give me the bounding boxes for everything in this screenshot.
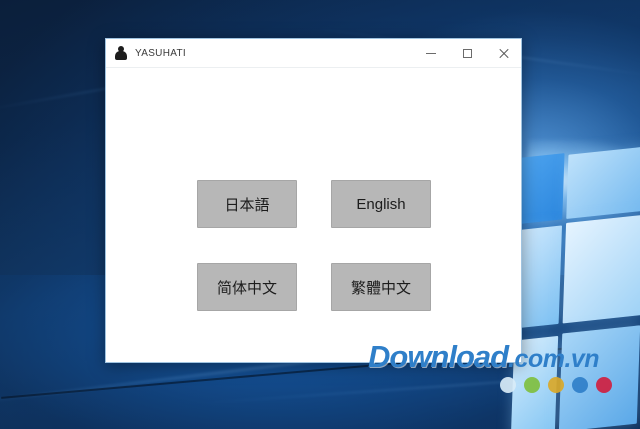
dot-yellow bbox=[548, 377, 564, 393]
application-window: YASUHATI 日本語 English 简体中文 繁體中文 bbox=[105, 38, 522, 363]
maximize-button[interactable] bbox=[449, 39, 485, 68]
language-button-japanese[interactable]: 日本語 bbox=[197, 180, 297, 228]
language-button-simplified-chinese[interactable]: 简体中文 bbox=[197, 263, 297, 311]
logo-pane bbox=[518, 153, 564, 224]
minimize-icon bbox=[426, 53, 436, 54]
maximize-icon bbox=[463, 49, 472, 58]
screen: YASUHATI 日本語 English 简体中文 繁體中文 bbox=[0, 0, 640, 429]
window-controls bbox=[413, 39, 521, 68]
dot-red bbox=[596, 377, 612, 393]
language-button-english[interactable]: English bbox=[331, 180, 431, 228]
title-bar[interactable]: YASUHATI bbox=[106, 39, 521, 68]
close-icon bbox=[498, 48, 509, 59]
language-button-traditional-chinese[interactable]: 繁體中文 bbox=[331, 263, 431, 311]
app-icon bbox=[113, 45, 129, 61]
dot-white bbox=[500, 377, 516, 393]
dot-green bbox=[524, 377, 540, 393]
watermark-dots bbox=[500, 377, 612, 393]
logo-pane bbox=[563, 215, 640, 324]
window-title: YASUHATI bbox=[135, 48, 186, 59]
dot-blue bbox=[572, 377, 588, 393]
close-button[interactable] bbox=[485, 39, 521, 68]
minimize-button[interactable] bbox=[413, 39, 449, 68]
logo-pane bbox=[566, 146, 640, 219]
client-area: 日本語 English 简体中文 繁體中文 bbox=[106, 68, 521, 362]
language-selection-grid: 日本語 English 简体中文 繁體中文 bbox=[197, 180, 431, 311]
